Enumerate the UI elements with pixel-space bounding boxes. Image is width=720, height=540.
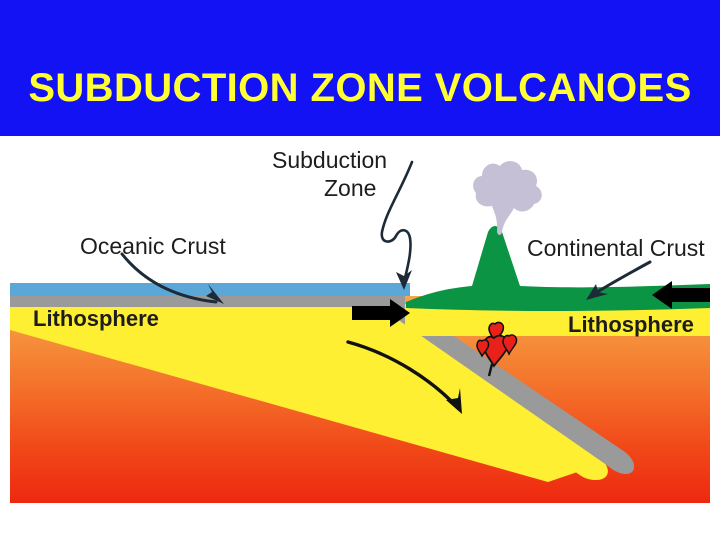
label-oceanic-crust: Oceanic Crust <box>80 233 226 259</box>
page-title: SUBDUCTION ZONE VOLCANOES <box>0 66 720 110</box>
label-lithosphere-left: Lithosphere <box>33 306 159 331</box>
label-subduction-zone-line2: Zone <box>324 175 376 201</box>
slide-canvas: SUBDUCTION ZONE VOLCANOES <box>0 0 720 540</box>
title-banner: SUBDUCTION ZONE VOLCANOES <box>0 0 720 136</box>
label-continental-crust: Continental Crust <box>527 235 705 261</box>
diagram-svg: Oceanic Crust Subduction Zone Continenta… <box>0 136 720 540</box>
label-lithosphere-right: Lithosphere <box>568 312 694 337</box>
subduction-zone-diagram: Oceanic Crust Subduction Zone Continenta… <box>0 136 720 540</box>
label-subduction-zone-line1: Subduction <box>272 147 387 173</box>
